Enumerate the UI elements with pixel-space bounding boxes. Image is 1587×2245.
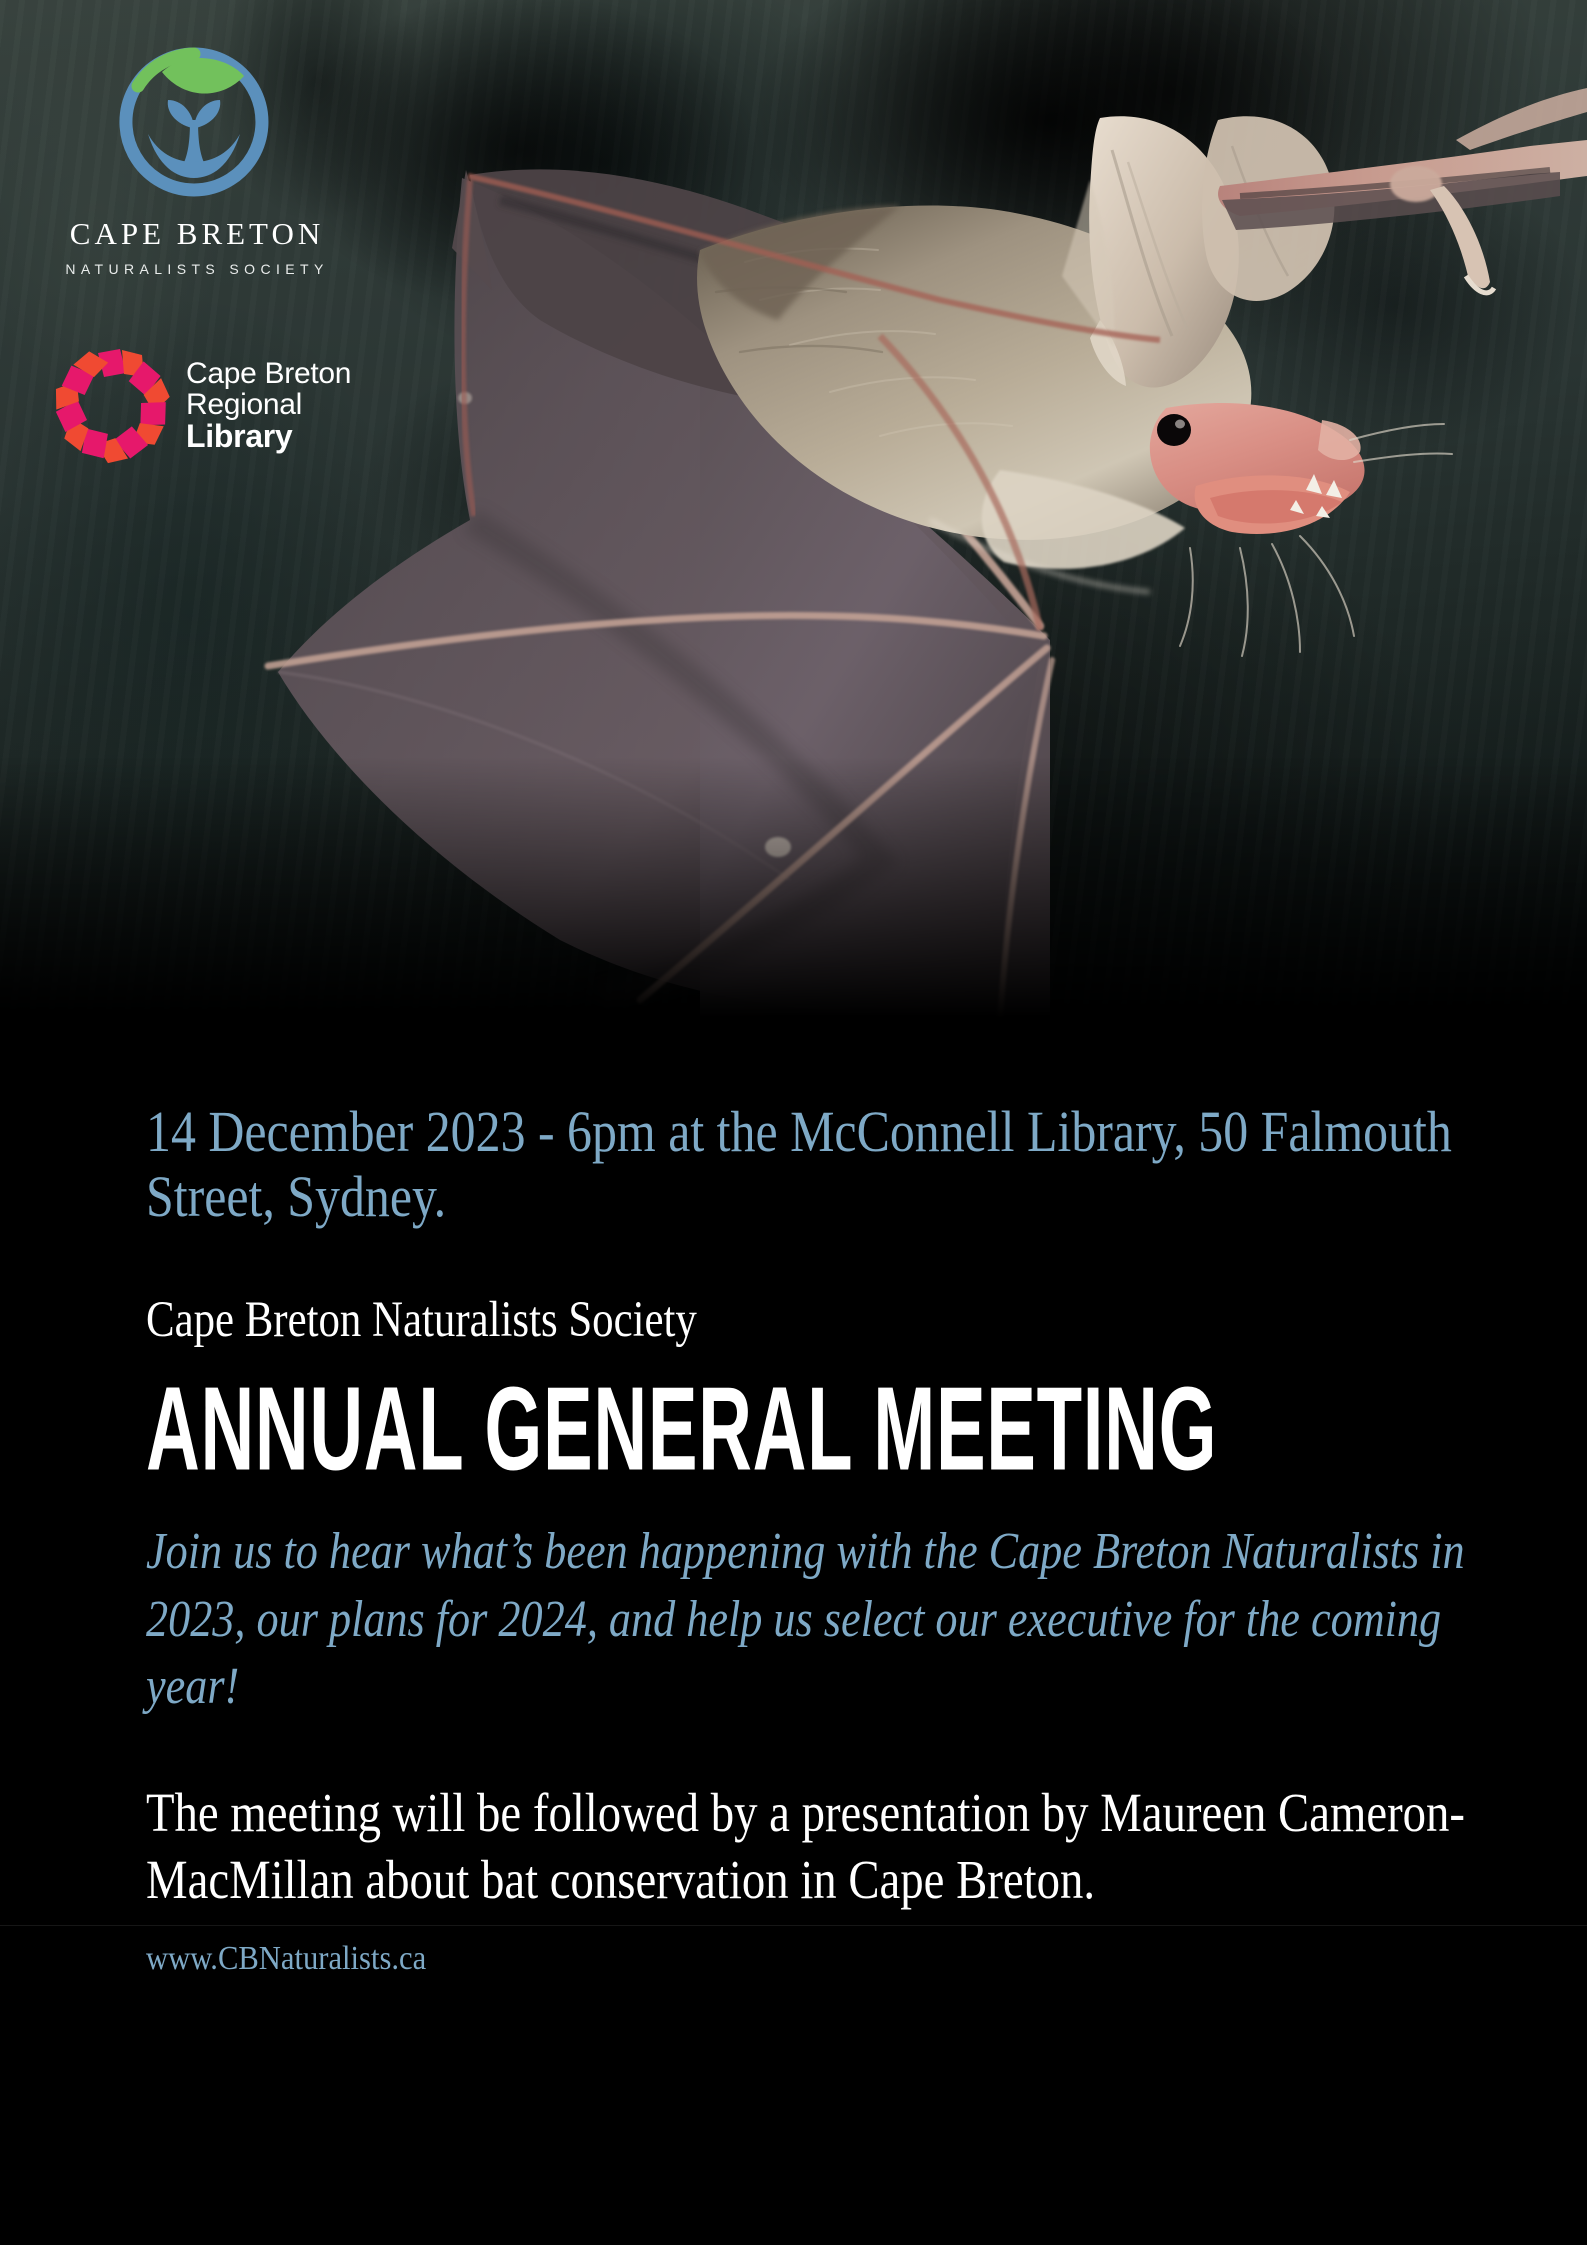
poster-root: CAPE BRETON NATURALISTS SOCIETY: [0, 0, 1587, 2245]
bat-photo: CAPE BRETON NATURALISTS SOCIETY: [0, 0, 1587, 1018]
naturalists-logo-line1: CAPE BRETON: [62, 216, 332, 252]
poster-text-content: 14 December 2023 - 6pm at the McConnell …: [146, 1100, 1486, 1980]
page-title: ANNUAL GENERAL MEETING: [146, 1370, 1483, 1489]
cape-breton-naturalists-logo: CAPE BRETON NATURALISTS SOCIETY: [62, 42, 332, 277]
naturalists-logo-line2: NATURALISTS SOCIETY: [62, 261, 332, 277]
library-logo-line1: Cape Breton: [186, 359, 351, 390]
library-logo-line3: Library: [186, 420, 351, 453]
organization-name: Cape Breton Naturalists Society: [146, 1292, 1485, 1348]
starburst-icon: [52, 345, 172, 465]
presentation-description: The meeting will be followed by a presen…: [146, 1779, 1490, 1913]
divider-hairline: [0, 1925, 1587, 1926]
photo-bottom-fade: [0, 758, 1587, 1018]
event-description: Join us to hear what’s been happening wi…: [146, 1518, 1490, 1721]
cape-breton-regional-library-logo: Cape Breton Regional Library: [52, 345, 392, 465]
library-logo-wordmark: Cape Breton Regional Library: [186, 357, 351, 453]
event-datetime-location: 14 December 2023 - 6pm at the McConnell …: [146, 1100, 1483, 1230]
website-url[interactable]: www.CBNaturalists.ca: [146, 1939, 1497, 1980]
sprout-circle-icon: [114, 42, 274, 202]
library-logo-line2: Regional: [186, 390, 351, 421]
